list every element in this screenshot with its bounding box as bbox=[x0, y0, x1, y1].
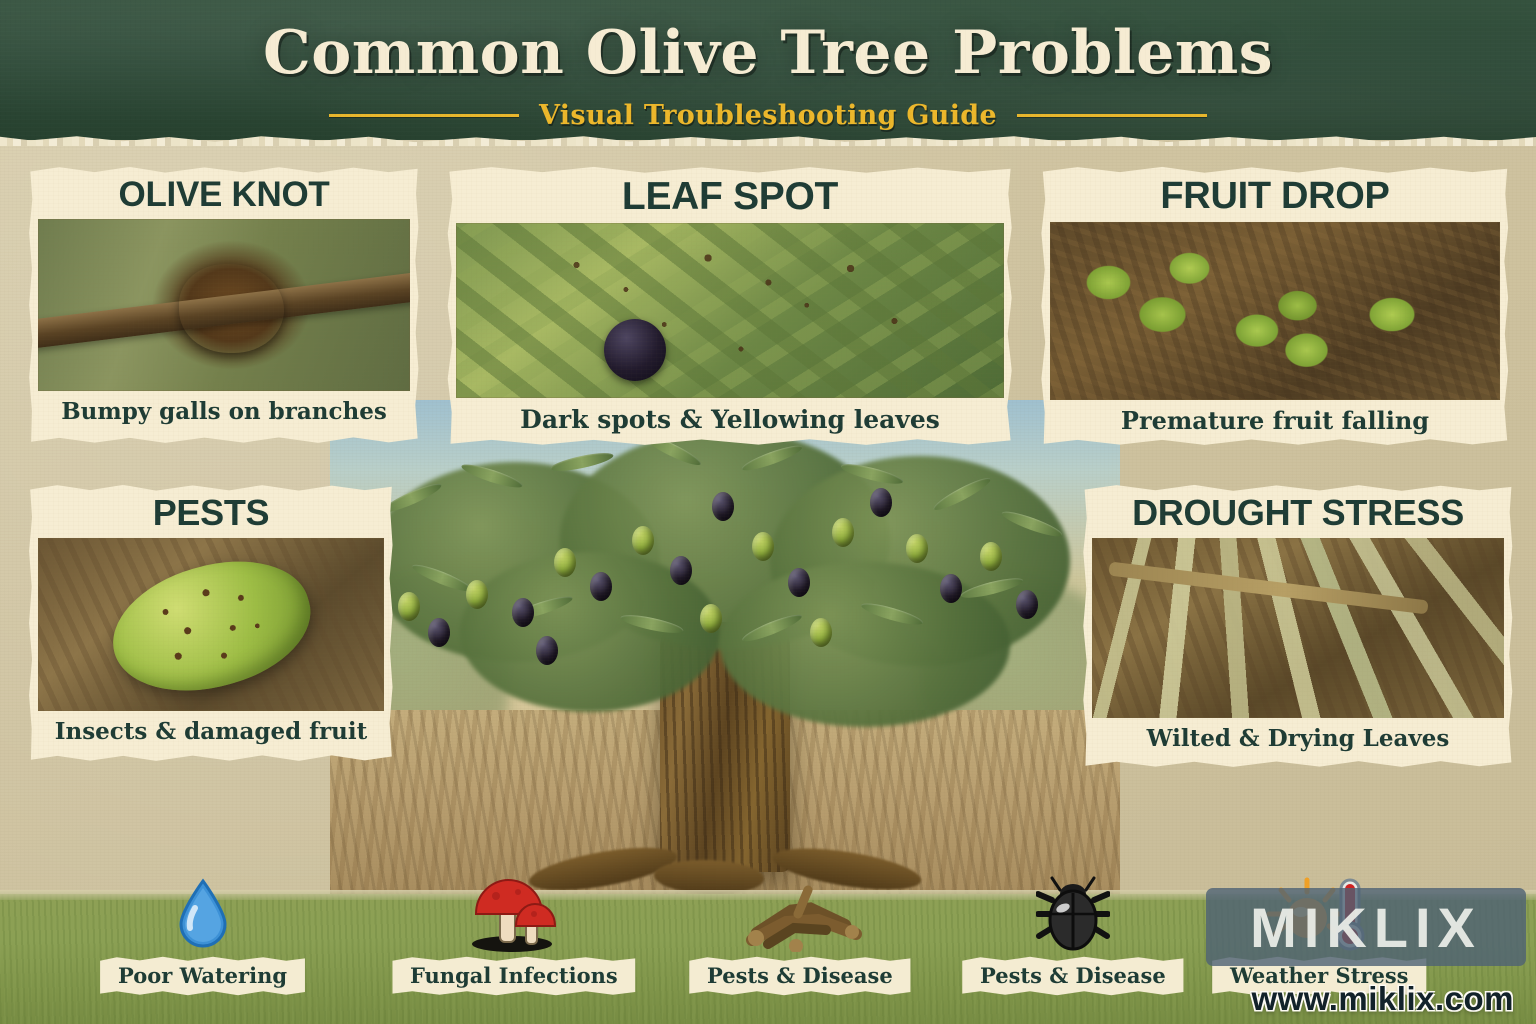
card-title: FRUIT DROP bbox=[1050, 177, 1500, 215]
mushroom-icon bbox=[466, 874, 562, 952]
card-title: DROUGHT STRESS bbox=[1092, 495, 1504, 531]
olive-tree-photo bbox=[330, 400, 1120, 900]
bottom-item-label: Fungal Infections bbox=[390, 956, 638, 996]
card-leaf-spot[interactable]: LEAF SPOT Dark spots & Yellowing leaves bbox=[446, 166, 1014, 446]
miklix-logo[interactable]: MIKLIX bbox=[1206, 888, 1526, 966]
divider-line-left bbox=[329, 114, 519, 117]
bottom-item-pests-disease-root[interactable]: Pests & Disease bbox=[687, 874, 913, 996]
water-droplet-icon bbox=[175, 874, 231, 952]
card-photo-fruit-drop bbox=[1050, 222, 1500, 400]
olive-tree-canopy bbox=[340, 422, 1110, 722]
subtitle-row: Visual Troubleshooting Guide bbox=[0, 100, 1536, 131]
card-photo-drought-stress bbox=[1092, 538, 1504, 718]
infographic-poster: Common Olive Tree Problems Visual Troubl… bbox=[0, 0, 1536, 1024]
card-caption: Dark spots & Yellowing leaves bbox=[456, 407, 1004, 432]
card-caption: Wilted & Drying Leaves bbox=[1092, 727, 1504, 750]
card-caption: Bumpy galls on branches bbox=[38, 400, 410, 423]
bottom-item-pests-disease-bug[interactable]: Pests & Disease bbox=[960, 874, 1186, 996]
card-caption: Premature fruit falling bbox=[1050, 409, 1500, 433]
card-title: LEAF SPOT bbox=[456, 177, 1004, 216]
bottom-item-label: Pests & Disease bbox=[960, 956, 1186, 996]
page-title: Common Olive Tree Problems bbox=[0, 18, 1536, 88]
miklix-logo-text: MIKLIX bbox=[1250, 895, 1482, 960]
bottom-item-fungal-infections[interactable]: Fungal Infections bbox=[390, 874, 638, 996]
card-title: OLIVE KNOT bbox=[38, 177, 410, 212]
bottom-item-label: Poor Watering bbox=[98, 956, 307, 996]
card-pests[interactable]: PESTS Insects & damaged fruit bbox=[28, 484, 394, 762]
card-drought-stress[interactable]: DROUGHT STRESS Wilted & Drying Leaves bbox=[1082, 484, 1514, 768]
bottom-item-poor-watering[interactable]: Poor Watering bbox=[98, 874, 307, 996]
beetle-icon bbox=[1036, 874, 1110, 952]
card-photo-pests bbox=[38, 538, 384, 711]
card-caption: Insects & damaged fruit bbox=[38, 720, 384, 743]
divider-line-right bbox=[1017, 114, 1207, 117]
card-olive-knot[interactable]: OLIVE KNOT Bumpy galls on branches bbox=[28, 166, 420, 444]
card-fruit-drop[interactable]: FRUIT DROP Premature fruit falling bbox=[1040, 166, 1510, 446]
card-photo-leaf-spot bbox=[456, 223, 1004, 398]
card-title: PESTS bbox=[38, 495, 384, 531]
site-url[interactable]: www.miklix.com bbox=[1251, 980, 1514, 1018]
poster-header: Common Olive Tree Problems Visual Troubl… bbox=[0, 0, 1536, 140]
page-subtitle: Visual Troubleshooting Guide bbox=[539, 100, 997, 131]
root-wood-icon bbox=[734, 874, 866, 952]
card-photo-olive-knot bbox=[38, 219, 410, 391]
bottom-item-label: Pests & Disease bbox=[687, 956, 913, 996]
